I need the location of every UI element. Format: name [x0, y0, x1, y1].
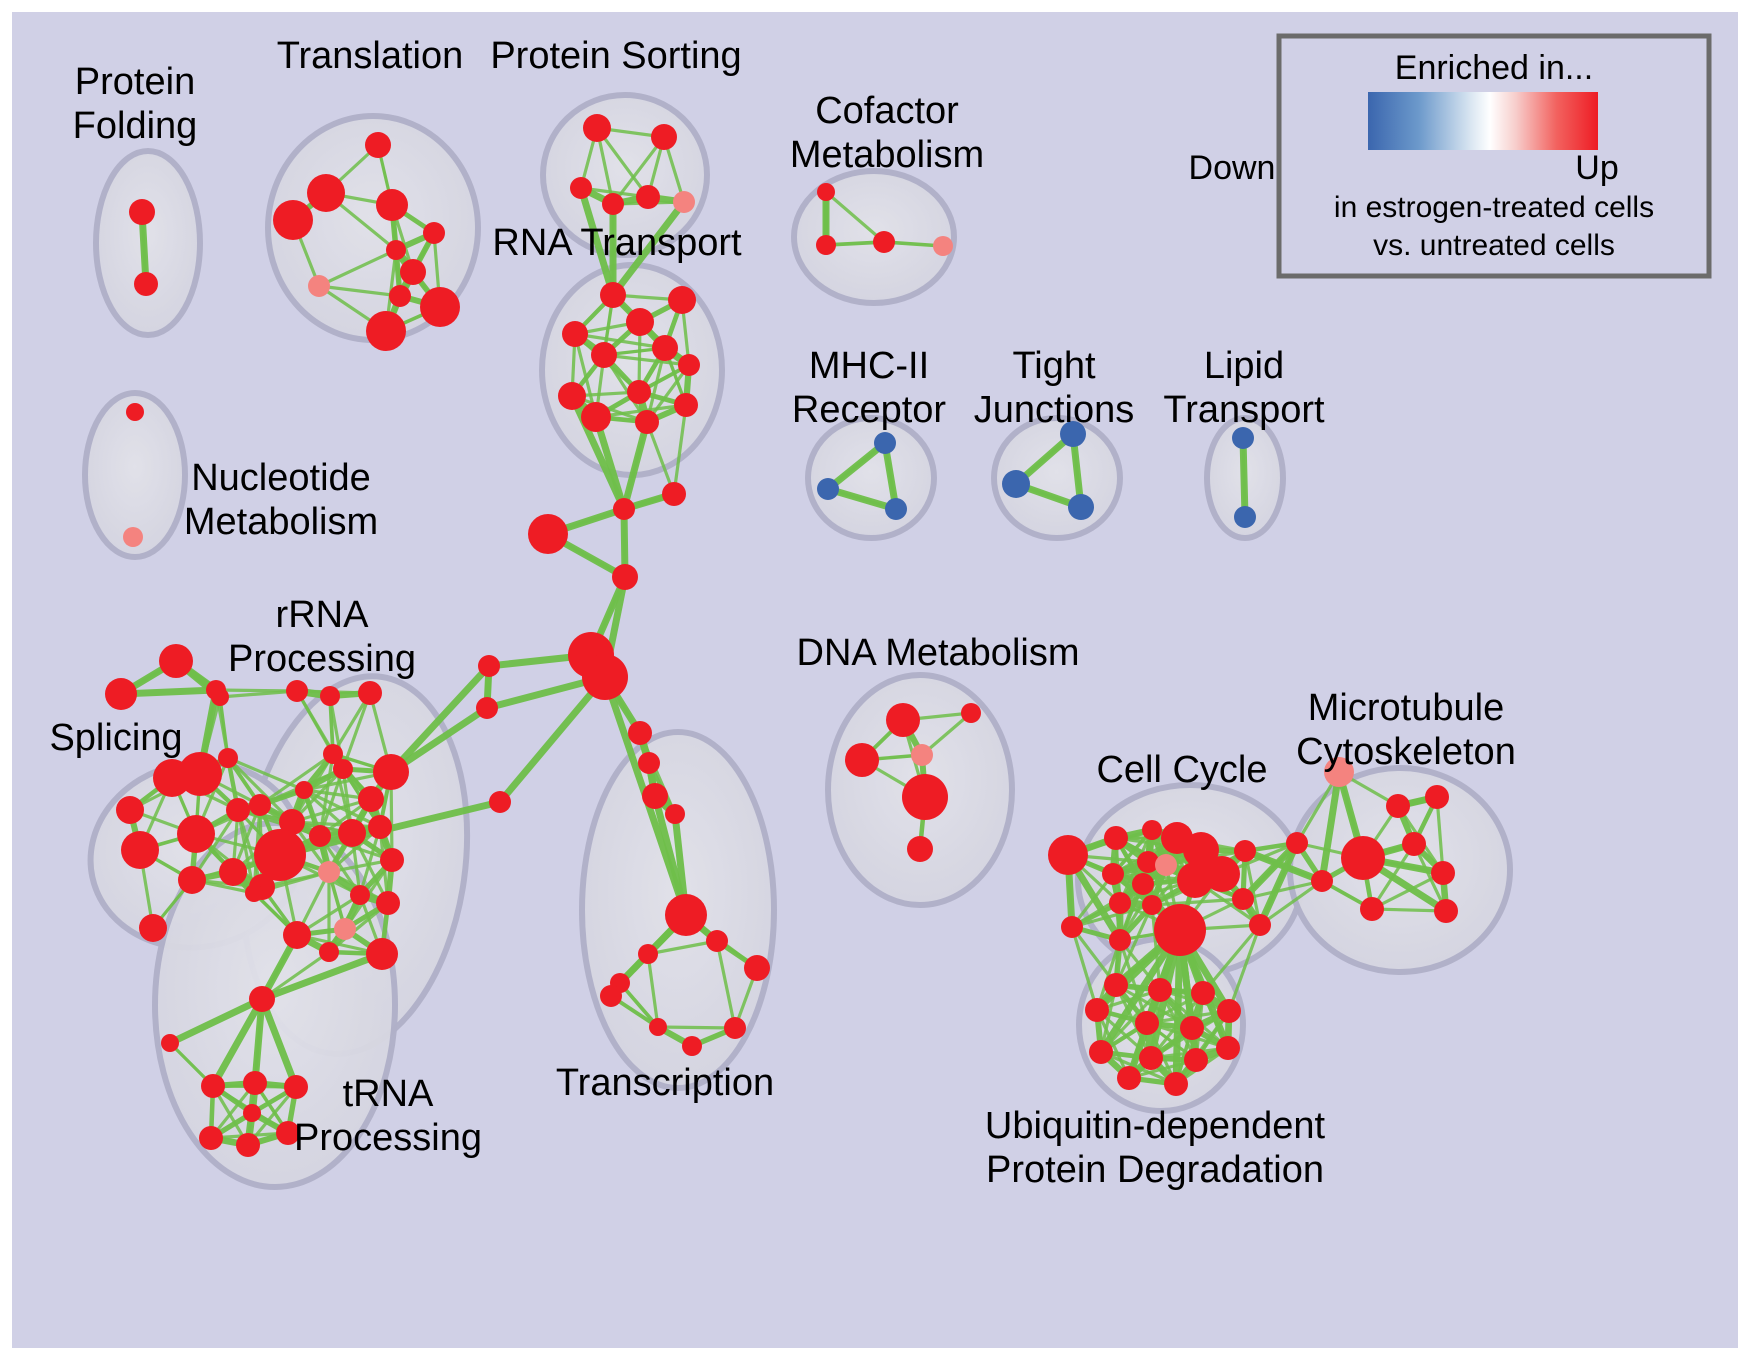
cluster-label-microtubule-cytoskeleton: Microtubule — [1308, 687, 1504, 729]
network-node[interactable] — [1155, 854, 1177, 876]
network-node[interactable] — [386, 240, 406, 260]
network-node[interactable] — [1431, 861, 1455, 885]
cluster-label-rrna-processing: rRNA — [276, 594, 370, 636]
network-node[interactable] — [284, 1075, 308, 1099]
network-node[interactable] — [649, 1018, 667, 1036]
cluster-label-translation: Translation — [277, 35, 464, 77]
network-node[interactable] — [423, 222, 445, 244]
figure-canvas: ProteinFoldingTranslationProtein Sorting… — [0, 0, 1750, 1360]
network-node[interactable] — [1434, 899, 1458, 923]
network-node[interactable] — [1109, 929, 1131, 951]
network-node[interactable] — [602, 193, 624, 215]
network-node[interactable] — [627, 380, 651, 404]
network-node[interactable] — [476, 697, 498, 719]
network-node[interactable] — [1109, 892, 1131, 914]
network-node[interactable] — [134, 272, 158, 296]
network-node[interactable] — [1217, 999, 1241, 1023]
network-node[interactable] — [886, 703, 920, 737]
network-node[interactable] — [126, 403, 144, 421]
network-node[interactable] — [1085, 998, 1109, 1022]
network-node[interactable] — [744, 955, 770, 981]
network-node[interactable] — [1386, 794, 1410, 818]
network-node[interactable] — [1232, 888, 1254, 910]
network-node[interactable] — [845, 743, 879, 777]
network-node[interactable] — [376, 891, 400, 915]
network-node[interactable] — [612, 564, 638, 590]
network-node[interactable] — [1286, 832, 1308, 854]
network-node[interactable] — [249, 986, 275, 1012]
network-node[interactable] — [254, 829, 306, 881]
cluster-label-rna-transport: RNA Transport — [492, 222, 742, 264]
network-node[interactable] — [338, 819, 366, 847]
network-node[interactable] — [178, 866, 206, 894]
network-node[interactable] — [1234, 506, 1256, 528]
network-node[interactable] — [591, 342, 617, 368]
network-node[interactable] — [366, 311, 406, 351]
cluster-label-protein-folding: Protein — [75, 61, 195, 103]
network-node[interactable] — [129, 199, 155, 225]
cluster-label-protein-sorting: Protein Sorting — [490, 35, 741, 77]
network-node[interactable] — [365, 132, 391, 158]
network-node[interactable] — [1135, 1011, 1159, 1035]
network-node[interactable] — [358, 786, 384, 812]
network-node[interactable] — [243, 1104, 261, 1122]
network-node[interactable] — [817, 478, 839, 500]
network-node[interactable] — [249, 794, 271, 816]
cluster-label-dna-metabolism: DNA Metabolism — [797, 632, 1080, 674]
cluster-label-cofactor-metabolism: Cofactor — [815, 90, 959, 132]
network-node[interactable] — [816, 235, 836, 255]
network-node[interactable] — [333, 759, 353, 779]
cluster-ellipse-protein-folding — [96, 151, 200, 335]
network-node[interactable] — [1148, 978, 1172, 1002]
network-node[interactable] — [243, 1071, 267, 1095]
network-node[interactable] — [1068, 494, 1094, 520]
network-node[interactable] — [236, 1133, 260, 1157]
cluster-label-mhc-ii-receptor: Receptor — [792, 389, 947, 431]
network-node[interactable] — [116, 796, 144, 824]
cluster-label-trna-processing: Processing — [294, 1117, 482, 1159]
network-node[interactable] — [1216, 1036, 1240, 1060]
network-node[interactable] — [366, 938, 398, 970]
network-node[interactable] — [1132, 873, 1154, 895]
cluster-label-nucleotide-metabolism: Metabolism — [184, 501, 378, 543]
legend-down-label: Down — [1189, 149, 1276, 187]
network-node[interactable] — [933, 236, 953, 256]
network-node[interactable] — [295, 781, 313, 799]
cluster-label-lipid-transport: Lipid — [1204, 345, 1284, 387]
network-node[interactable] — [1061, 916, 1083, 938]
network-node[interactable] — [902, 774, 948, 820]
network-node[interactable] — [528, 514, 568, 554]
cluster-label-microtubule-cytoskeleton: Cytoskeleton — [1296, 731, 1516, 773]
network-node[interactable] — [389, 285, 411, 307]
network-node[interactable] — [1002, 470, 1030, 498]
network-node[interactable] — [570, 177, 592, 199]
network-node[interactable] — [380, 848, 404, 872]
network-node[interactable] — [159, 644, 193, 678]
network-node[interactable] — [1142, 820, 1162, 840]
network-edge — [1243, 438, 1245, 517]
network-node[interactable] — [121, 831, 159, 869]
legend-title: Enriched in... — [1395, 49, 1593, 87]
cluster-label-ubiquitin-degradation: Protein Degradation — [986, 1149, 1324, 1191]
cluster-label-lipid-transport: Transport — [1163, 389, 1325, 431]
network-node[interactable] — [420, 287, 460, 327]
network-node[interactable] — [219, 858, 247, 886]
network-node[interactable] — [665, 894, 707, 936]
network-node[interactable] — [1402, 832, 1426, 856]
legend-subtitle-line1: in estrogen-treated cells — [1334, 191, 1654, 224]
network-node[interactable] — [817, 183, 835, 201]
network-node[interactable] — [562, 321, 588, 347]
network-node[interactable] — [1249, 914, 1271, 936]
network-node[interactable] — [626, 308, 654, 336]
network-node[interactable] — [961, 703, 981, 723]
network-node[interactable] — [105, 678, 137, 710]
network-node[interactable] — [678, 354, 700, 376]
network-node[interactable] — [873, 231, 895, 253]
network-node[interactable] — [1360, 897, 1384, 921]
network-node[interactable] — [308, 275, 330, 297]
network-node[interactable] — [628, 721, 652, 745]
network-node[interactable] — [1180, 1016, 1204, 1040]
network-node[interactable] — [652, 335, 678, 361]
network-node[interactable] — [273, 200, 313, 240]
network-node[interactable] — [581, 402, 611, 432]
network-node[interactable] — [558, 382, 586, 410]
network-node[interactable] — [582, 654, 628, 700]
network-node[interactable] — [368, 815, 392, 839]
network-node[interactable] — [286, 680, 308, 702]
network-node[interactable] — [201, 1074, 225, 1098]
network-node[interactable] — [642, 783, 668, 809]
network-node[interactable] — [307, 174, 345, 212]
network-node[interactable] — [489, 791, 511, 813]
cluster-label-nucleotide-metabolism: Nucleotide — [191, 457, 371, 499]
network-node[interactable] — [1191, 981, 1215, 1005]
network-node[interactable] — [885, 498, 907, 520]
network-node[interactable] — [211, 688, 229, 706]
network-node[interactable] — [613, 498, 635, 520]
network-node[interactable] — [1139, 1046, 1163, 1070]
network-node[interactable] — [874, 432, 896, 454]
network-node[interactable] — [177, 815, 215, 853]
cluster-label-tight-junctions: Tight — [1012, 345, 1096, 387]
network-node[interactable] — [668, 286, 696, 314]
network-node[interactable] — [318, 861, 340, 883]
network-node[interactable] — [1104, 973, 1128, 997]
network-node[interactable] — [1234, 840, 1256, 862]
network-node[interactable] — [674, 393, 698, 417]
network-node[interactable] — [1184, 1048, 1208, 1072]
network-node[interactable] — [1142, 895, 1162, 915]
network-node[interactable] — [358, 681, 382, 705]
network-node[interactable] — [1311, 870, 1333, 892]
cluster-label-cell-cycle: Cell Cycle — [1096, 749, 1267, 791]
network-node[interactable] — [682, 1036, 702, 1056]
network-node[interactable] — [226, 798, 250, 822]
network-node[interactable] — [638, 944, 658, 964]
network-node[interactable] — [161, 1034, 179, 1052]
network-node[interactable] — [309, 825, 331, 847]
network-node[interactable] — [199, 1126, 223, 1150]
network-node[interactable] — [638, 752, 660, 774]
network-node[interactable] — [139, 914, 167, 942]
network-node[interactable] — [123, 527, 143, 547]
network-node[interactable] — [600, 985, 622, 1007]
network-node[interactable] — [373, 754, 409, 790]
network-node[interactable] — [1341, 836, 1385, 880]
cluster-label-transcription: Transcription — [556, 1062, 774, 1104]
network-node[interactable] — [1102, 863, 1124, 885]
network-node[interactable] — [600, 282, 626, 308]
network-node[interactable] — [334, 918, 356, 940]
network-edge — [658, 1027, 735, 1028]
network-node[interactable] — [1425, 785, 1449, 809]
network-node[interactable] — [673, 191, 695, 213]
cluster-label-cofactor-metabolism: Metabolism — [790, 134, 984, 176]
network-node[interactable] — [320, 686, 340, 706]
network-node[interactable] — [376, 189, 408, 221]
cluster-label-tight-junctions: Junctions — [974, 389, 1135, 431]
cluster-label-mhc-ii-receptor: MHC-II — [809, 345, 929, 387]
network-node[interactable] — [724, 1017, 746, 1039]
network-node[interactable] — [706, 930, 728, 952]
network-node[interactable] — [400, 259, 426, 285]
network-node[interactable] — [1048, 835, 1088, 875]
network-node[interactable] — [665, 804, 685, 824]
cluster-label-splicing: Splicing — [49, 717, 182, 759]
network-node[interactable] — [319, 942, 339, 962]
network-node[interactable] — [662, 482, 686, 506]
cluster-label-trna-processing: tRNA — [343, 1073, 434, 1115]
cluster-label-ubiquitin-degradation: Ubiquitin-dependent — [985, 1105, 1326, 1147]
network-node[interactable] — [1154, 904, 1206, 956]
network-node[interactable] — [218, 748, 238, 768]
network-node[interactable] — [636, 185, 660, 209]
enrichment-map-svg: ProteinFoldingTranslationProtein Sorting… — [0, 0, 1750, 1360]
legend-up-label: Up — [1575, 149, 1618, 187]
legend-color-bar — [1368, 92, 1598, 150]
cluster-ellipse-mhc-ii-receptor — [808, 418, 934, 538]
network-node[interactable] — [583, 114, 611, 142]
network-node[interactable] — [1204, 856, 1240, 892]
network-node[interactable] — [1104, 826, 1128, 850]
network-node[interactable] — [1089, 1040, 1113, 1064]
network-node[interactable] — [1117, 1066, 1141, 1090]
network-node[interactable] — [635, 410, 659, 434]
cluster-label-rrna-processing: Processing — [228, 638, 416, 680]
network-node[interactable] — [350, 885, 370, 905]
network-node[interactable] — [1164, 1072, 1188, 1096]
network-node[interactable] — [283, 921, 311, 949]
cluster-label-protein-folding: Folding — [73, 105, 198, 147]
network-node[interactable] — [907, 836, 933, 862]
network-node[interactable] — [478, 655, 500, 677]
legend-subtitle-line2: vs. untreated cells — [1373, 229, 1615, 262]
network-node[interactable] — [178, 752, 222, 796]
network-node[interactable] — [651, 124, 677, 150]
network-node[interactable] — [911, 744, 933, 766]
network-node[interactable] — [245, 884, 263, 902]
